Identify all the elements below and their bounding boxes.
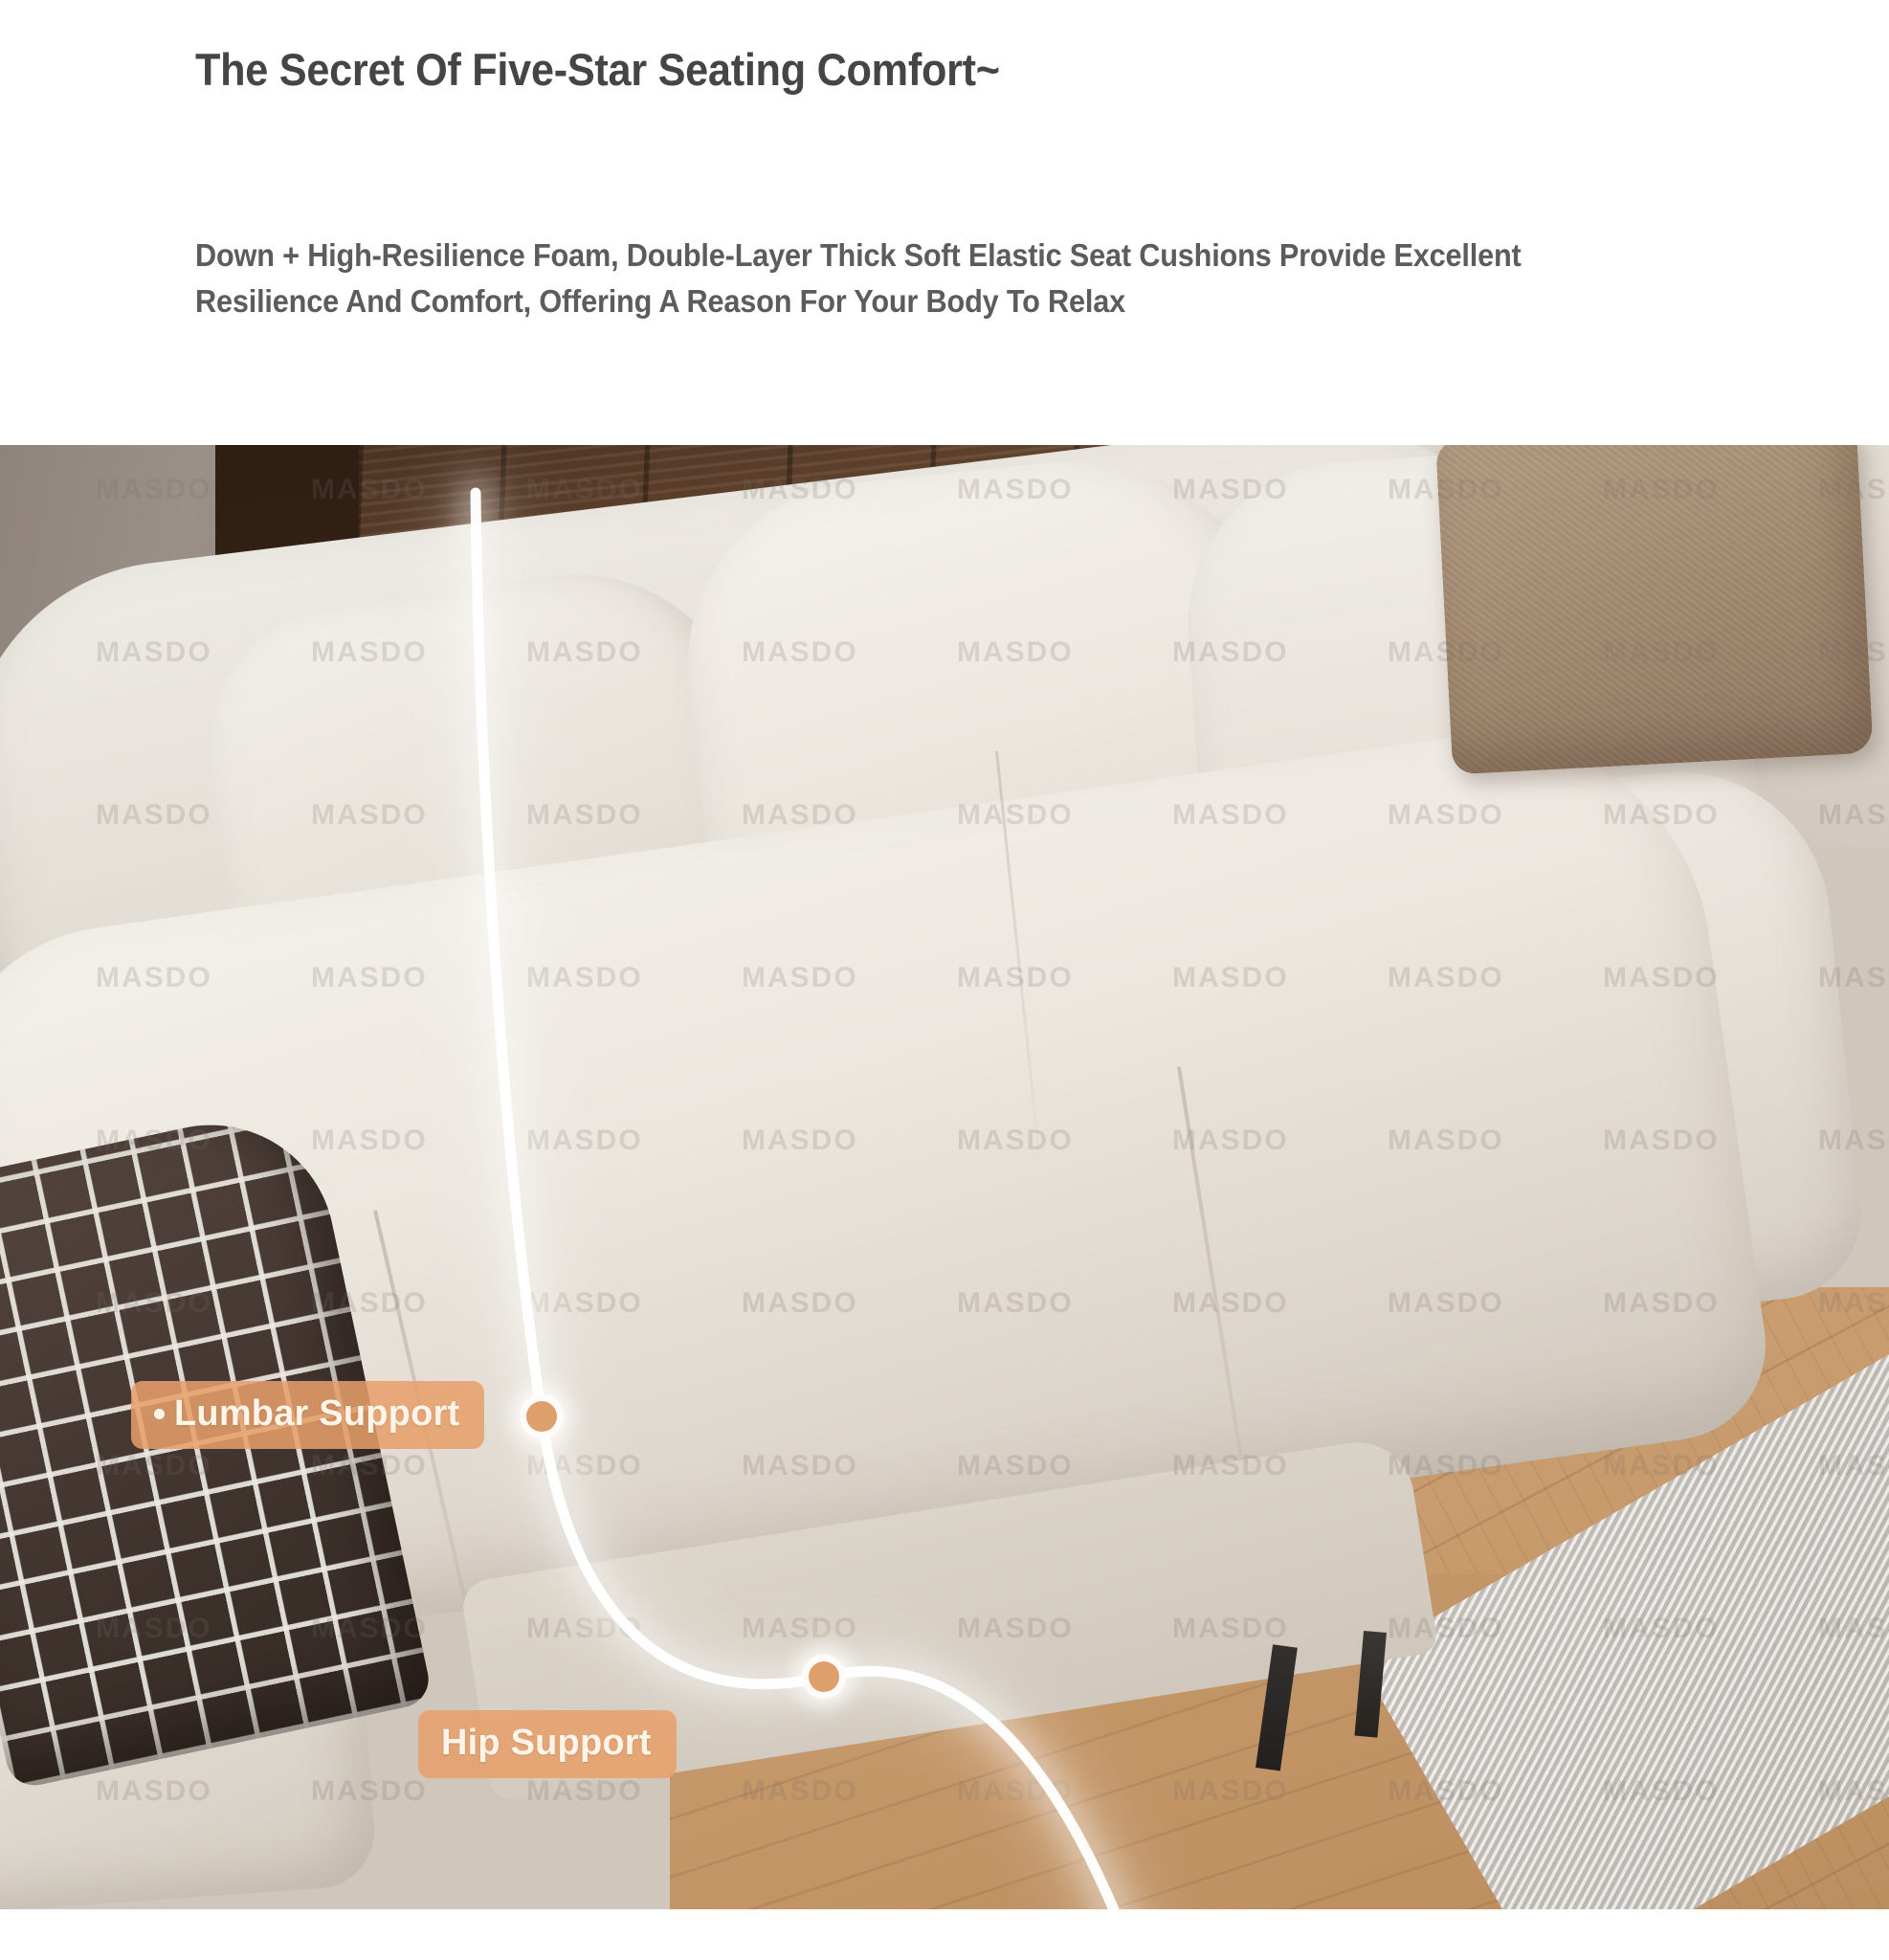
throw-pillow-tan	[1435, 445, 1874, 775]
callout-badge-lumbar-support[interactable]: Lumbar Support	[131, 1381, 484, 1449]
page-bottom-spacer	[0, 1909, 1889, 1960]
page-subtitle: Down + High-Resilience Foam, Double-Laye…	[195, 233, 1530, 323]
bullet-dot-icon	[154, 1409, 165, 1419]
product-photo: MASDOMASDOMASDOMASDOMASDOMASDOMASDOMASDO…	[0, 445, 1889, 1909]
callout-label: Hip Support	[441, 1723, 652, 1764]
header-text-block: The Secret Of Five-Star Seating Comfort~…	[0, 0, 1889, 445]
callout-label: Lumbar Support	[174, 1393, 459, 1435]
marker-dot-lumbar[interactable]	[520, 1394, 564, 1438]
callout-badge-hip-support[interactable]: Hip Support	[418, 1710, 677, 1778]
marker-dot-hip[interactable]	[802, 1655, 846, 1699]
page-title: The Secret Of Five-Star Seating Comfort~	[195, 40, 1076, 99]
